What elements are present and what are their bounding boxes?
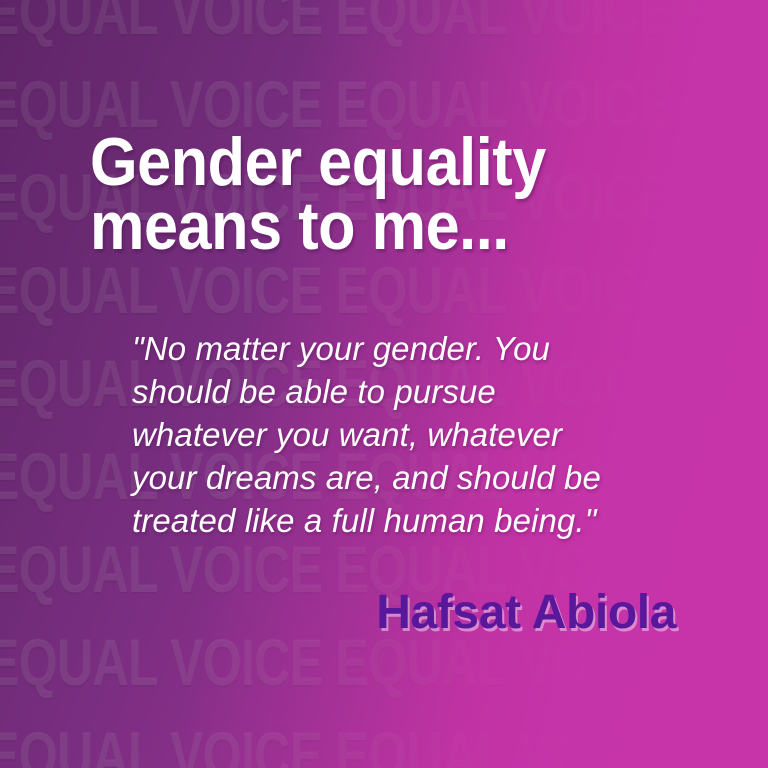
quote-line-4: your dreams are, and should be	[132, 456, 732, 499]
quote-text: "No matter your gender. You should be ab…	[132, 327, 732, 542]
page-title: Gender equality means to me...	[90, 130, 630, 259]
quote-line-5: treated like a full human being."	[132, 499, 732, 542]
quote-line-1: "No matter your gender. You	[132, 327, 732, 370]
headline-line-1: Gender equality	[90, 130, 630, 195]
quote-line-2: should be able to pursue	[132, 370, 732, 413]
headline-line-2: means to me...	[90, 194, 630, 259]
quote-line-3: whatever you want, whatever	[132, 413, 732, 456]
card-content: Gender equality means to me... "No matte…	[0, 0, 768, 768]
quote-attribution: Hafsat Abiola	[376, 586, 676, 640]
quote-card: EQUAL VOICE EQUAL VOICE EQUAL VOICE EQUA…	[0, 0, 768, 768]
